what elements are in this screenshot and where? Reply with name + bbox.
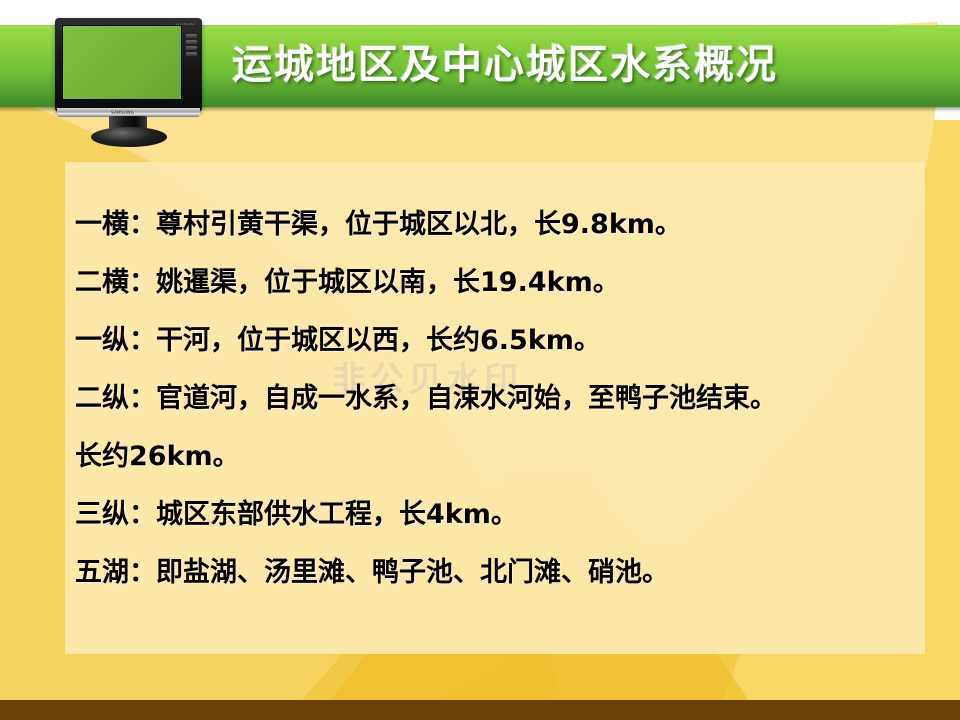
monitor-button [186,46,197,50]
body-line: 一横：尊村引黄干渠，位于城区以北，长9.8km。 [75,196,915,254]
page-title: 运城地区及中心城区水系概况 [232,36,932,94]
slide: 运城地区及中心城区水系概况 SyncMaster SAMSUNG 非公贝水印 一… [0,0,960,720]
body-line: 二横：姚暹渠，位于城区以南，长19.4km。 [75,254,915,312]
monitor-button [186,40,197,44]
monitor-button [186,34,197,38]
monitor-bezel: SyncMaster [55,18,202,112]
body-line: 五湖：即盐湖、汤里滩、鸭子池、北门滩、硝池。 [75,544,915,602]
body-line: 二纵：官道河，自成一水系，自涑水河始，至鸭子池结束。 [75,370,915,428]
monitor-icon: SyncMaster SAMSUNG [55,18,202,140]
body-line: 三纵：城区东部供水工程，长4km。 [75,486,915,544]
monitor-brand-label: SAMSUNG [111,110,134,115]
monitor-buttons [186,34,198,58]
bottom-bar [0,700,960,720]
monitor-button [186,52,197,56]
monitor-stand [91,127,167,147]
body-text-block: 一横：尊村引黄干渠，位于城区以北，长9.8km。 二横：姚暹渠，位于城区以南，长… [75,196,915,602]
monitor-model-label: SyncMaster [176,22,196,26]
body-line: 一纵：干河，位于城区以西，长约6.5km。 [75,312,915,370]
monitor-screen [62,25,182,100]
body-line: 长约26km。 [75,428,915,486]
